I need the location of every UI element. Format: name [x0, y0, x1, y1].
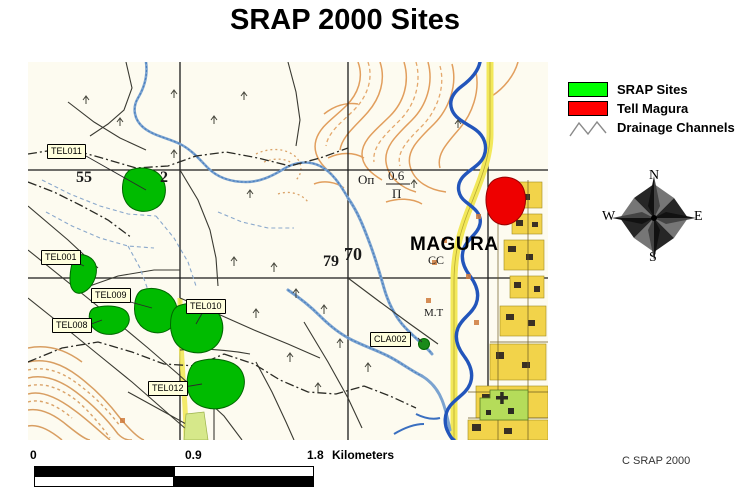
- site-label-tel012[interactable]: TEL012: [148, 381, 188, 396]
- legend-item-srap-sites[interactable]: SRAP Sites: [568, 80, 750, 98]
- place-label-magura: MAGURA: [410, 234, 499, 256]
- legend-label-drainage-channels: Drainage Channels: [617, 120, 735, 135]
- scale-tick-0-9: 0.9: [185, 448, 202, 462]
- scale-bar: 0 0.9 1.8 Kilometers: [30, 450, 410, 480]
- compass-rose-icon: [598, 168, 708, 270]
- site-label-cla002[interactable]: CLA002: [370, 332, 411, 347]
- scale-units-label: Kilometers: [332, 448, 394, 462]
- legend-item-drainage-channels[interactable]: Drainage Channels: [568, 118, 750, 136]
- compass-rose: N S E W: [598, 168, 708, 270]
- legend-label-tell-magura: Tell Magura: [617, 101, 688, 116]
- green-square-swatch: [568, 82, 608, 97]
- svg-text:79: 79: [323, 253, 339, 270]
- site-label-tel001[interactable]: TEL001: [41, 250, 81, 265]
- scale-segment-bottom-left: [34, 476, 174, 487]
- legend: SRAP Sites Tell Magura Drainage Channels: [568, 80, 750, 137]
- svg-text:Оп: Оп: [358, 172, 374, 187]
- svg-text:2: 2: [160, 169, 168, 186]
- page-title: SRAP 2000 Sites: [0, 4, 690, 37]
- svg-text:0.6: 0.6: [388, 168, 405, 183]
- scale-tick-1-8: 1.8: [307, 448, 324, 462]
- site-label-tel010[interactable]: TEL010: [186, 299, 226, 314]
- red-square-swatch: [568, 101, 608, 116]
- legend-item-tell-magura[interactable]: Tell Magura: [568, 99, 750, 117]
- copyright-notice: C SRAP 2000: [622, 455, 690, 467]
- svg-text:П: П: [392, 186, 401, 201]
- site-label-tel009[interactable]: TEL009: [91, 288, 131, 303]
- drainage-line-swatch: [568, 120, 608, 135]
- site-label-tel011[interactable]: TEL011: [47, 144, 86, 159]
- scale-segment-bottom-right: [174, 476, 314, 487]
- scale-tick-0: 0: [30, 448, 37, 462]
- svg-text:55: 55: [76, 169, 92, 186]
- svg-text:М.Т: М.Т: [424, 307, 444, 319]
- legend-label-srap-sites: SRAP Sites: [617, 82, 688, 97]
- site-label-tel008[interactable]: TEL008: [52, 318, 92, 333]
- svg-text:70: 70: [344, 244, 362, 264]
